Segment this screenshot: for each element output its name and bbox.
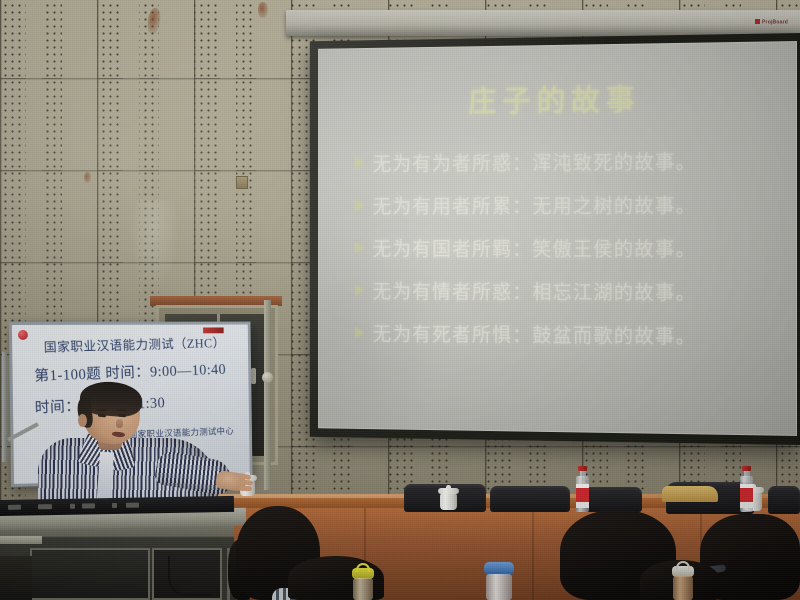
slide-bullet-item: 无为有为者所惑：浑沌致死的故事。 [355, 145, 773, 176]
porcelain-cup[interactable] [440, 493, 457, 510]
chair[interactable] [490, 486, 570, 512]
slide-bullet-text: 无为有国者所羁：笑傲王侯的故事。 [373, 233, 697, 262]
cup-knob [446, 485, 451, 489]
screen-side-rail [264, 300, 271, 490]
bottle-handle [676, 561, 690, 570]
lectern-equipment-bay [30, 548, 150, 600]
speaker-nose [116, 419, 123, 428]
whiteboard-line-title: 国家职业汉语能力测试（ZHC） [44, 332, 226, 355]
chair[interactable] [768, 486, 800, 514]
bottle-label [740, 484, 753, 508]
speaker-eye [118, 414, 126, 418]
triangle-bullet-icon [355, 199, 364, 211]
port-icon[interactable] [82, 503, 95, 508]
port-icon[interactable] [112, 503, 117, 508]
slide-bullet-text: 无为有用者所累：无用之树的故事。 [373, 189, 697, 218]
projected-slide: 庄子的故事 无为有为者所惑：浑沌致死的故事。 无为有用者所累：无用之树的故事。 … [318, 41, 797, 436]
slide-bullet-list: 无为有为者所惑：浑沌致死的故事。 无为有用者所累：无用之树的故事。 无为有国者所… [342, 145, 773, 350]
brand-text: ProjBoard [762, 20, 788, 26]
triangle-bullet-icon [355, 284, 364, 296]
bottle-body [486, 574, 512, 600]
lecture-hall-scene: ProjBoard 庄子的故事 无为有为者所惑：浑沌致死的故事。 无为有用者所累… [0, 0, 800, 600]
bottle-body [353, 578, 373, 600]
slide-bullet-item: 无为有死者所惧：鼓盆而歌的故事。 [355, 318, 773, 350]
triangle-bullet-icon [355, 326, 364, 338]
lectern-side-shelf [0, 536, 42, 544]
port-icon[interactable] [8, 505, 21, 510]
water-bottle[interactable] [740, 466, 753, 512]
bottle-body [673, 576, 693, 600]
bottle-body [740, 476, 753, 512]
slide-bullet-item: 无为有用者所累：无用之树的故事。 [355, 189, 773, 219]
triangle-bullet-icon [355, 241, 364, 253]
water-bottle[interactable] [576, 466, 589, 512]
slide-bullet-text: 无为有情者所惑：相忘江湖的故事。 [373, 276, 697, 306]
speaker-ear [78, 414, 87, 427]
projection-screen: 庄子的故事 无为有为者所惑：浑沌致死的故事。 无为有用者所累：无用之树的故事。 … [310, 33, 800, 445]
foreground-bottle[interactable] [484, 562, 514, 600]
brand-square-icon [755, 19, 760, 24]
triangle-bullet-icon [355, 157, 364, 169]
speaker-eye [98, 414, 106, 418]
bottle-handle [356, 563, 370, 572]
slide-bullet-text: 无为有为者所惑：浑沌致死的故事。 [373, 146, 697, 176]
bottle-label [576, 484, 589, 508]
slide-bullet-text: 无为有死者所惧：鼓盆而歌的故事。 [373, 318, 697, 349]
lectern-left-panel [0, 556, 32, 600]
port-icon[interactable] [70, 504, 75, 509]
door-handle[interactable] [251, 368, 256, 384]
whiteboard-easel-post [2, 352, 7, 462]
slide-bullet-item: 无为有情者所惑：相忘江湖的故事。 [355, 276, 773, 306]
screen-brand-label: ProjBoard [755, 19, 788, 26]
bottle-body [576, 476, 589, 512]
whiteboard-line-section1: 第1-100题 时间：9:00—10:40 [34, 358, 226, 386]
speaker-eyebrow [117, 409, 127, 411]
equipment-cable [168, 556, 212, 596]
screen-housing-bar: ProjBoard [286, 10, 800, 36]
rail-knob [262, 372, 273, 383]
port-icon[interactable] [126, 503, 139, 508]
slide-bullet-item: 无为有国者所羁：笑傲王侯的故事。 [355, 233, 773, 262]
speaker-finger [239, 486, 252, 491]
port-icon[interactable] [38, 504, 52, 509]
slide-title: 庄子的故事 [342, 73, 773, 121]
speaker-eyebrow [97, 409, 107, 411]
bag-on-table[interactable] [662, 486, 718, 502]
